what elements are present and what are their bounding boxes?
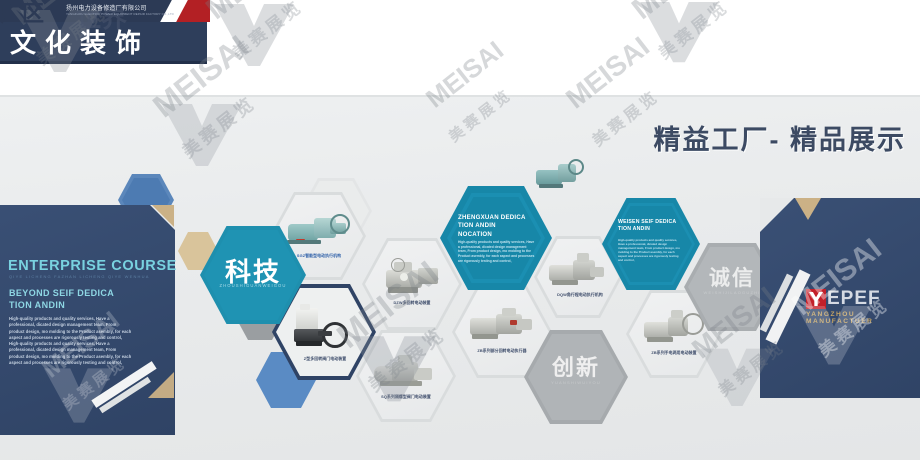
left-panel-gold-accent-top	[152, 205, 174, 227]
watermark-cn-2: 美赛展览	[226, 0, 308, 64]
right-panel-gold-accent	[795, 198, 821, 220]
poster-canvas: 世界 扬州电力设备修造厂有限公司 YANGZHOU ELECTRIC POWER…	[0, 0, 920, 460]
watermark-logo-icon-2	[214, 4, 294, 74]
hex-chuangxin-pinyin: YUANSHIWUIYOU	[524, 380, 628, 385]
product-image-1	[286, 212, 350, 246]
product-image-7	[642, 308, 708, 346]
logo-wordmark: EPEF	[827, 288, 881, 310]
left-panel-gold-accent-bottom	[148, 372, 174, 398]
top-banner: 世界 扬州电力设备修造厂有限公司 YANGZHOU ELECTRIC POWER…	[0, 0, 210, 68]
product-caption-2: DZW多回转电动装置	[368, 300, 456, 306]
enterprise-course-subtitle: QIYE LICHENG FAZHAN LICHENG QIYE WENHUA	[9, 274, 150, 279]
product-image-6	[546, 252, 608, 288]
hex-keji-pinyin: ZHOUSHIGUANWEIGOU	[200, 283, 306, 288]
banner-lead-text: 广区	[0, 0, 44, 28]
hex-chuangxin-label: 创新	[524, 350, 628, 382]
company-logo: EPEF	[806, 288, 881, 310]
watermark-cn-5: 美赛展览	[652, 0, 734, 64]
logo-mark-icon	[806, 289, 826, 309]
product-caption-8: Z型多回转阀门电动装置	[294, 356, 356, 362]
page-title: 精益工厂- 精品展示	[654, 118, 907, 157]
right-panel-corner-cut	[760, 198, 794, 232]
product-image-8	[292, 306, 356, 352]
hex-zhengxuan-body: High-quality products and quality servic…	[458, 240, 536, 264]
product-image-4	[372, 352, 438, 390]
product-image-5	[534, 158, 586, 192]
company-name-cn: 扬州电力设备修造厂有限公司	[66, 3, 176, 12]
product-caption-4: SQ系列隔爆型阀门电动装置	[362, 394, 450, 400]
watermark-en-2: MEISAI	[200, 0, 302, 27]
left-panel-body-text: High-quality products and quality servic…	[9, 316, 133, 366]
company-name-en: YANGZHOU ELECTRIC POWER EQUIPMENT REPAIR…	[66, 12, 176, 16]
hex-weisen-body: High-quality products and quality servic…	[618, 238, 684, 263]
product-image-3	[466, 306, 536, 344]
product-caption-7: ZB系列手电两用电动装置	[632, 350, 716, 356]
left-panel-heading: BEYOND SEIF DEDICA TION ANDIN	[9, 288, 114, 311]
product-caption-6: DQW角行程电动执行机构	[540, 292, 620, 298]
product-image-2	[378, 258, 444, 296]
enterprise-course-title: ENTERPRISE COURSE	[8, 258, 177, 274]
watermark-en-5: MEISAI	[626, 0, 728, 27]
watermark-logo-icon-4	[640, 2, 718, 70]
wall-top-edge	[0, 95, 920, 97]
banner-title: 文化装饰	[10, 26, 150, 60]
hex-zhengxuan-title: ZHENGXUAN DEDICA TION ANDIN NOCATION	[458, 214, 538, 239]
hex-weisen-title: WEISEN SEIF DEDICA TION ANDIN	[618, 219, 688, 233]
logo-subtitle: YANGZHOU MANUFACTUER	[806, 311, 920, 325]
